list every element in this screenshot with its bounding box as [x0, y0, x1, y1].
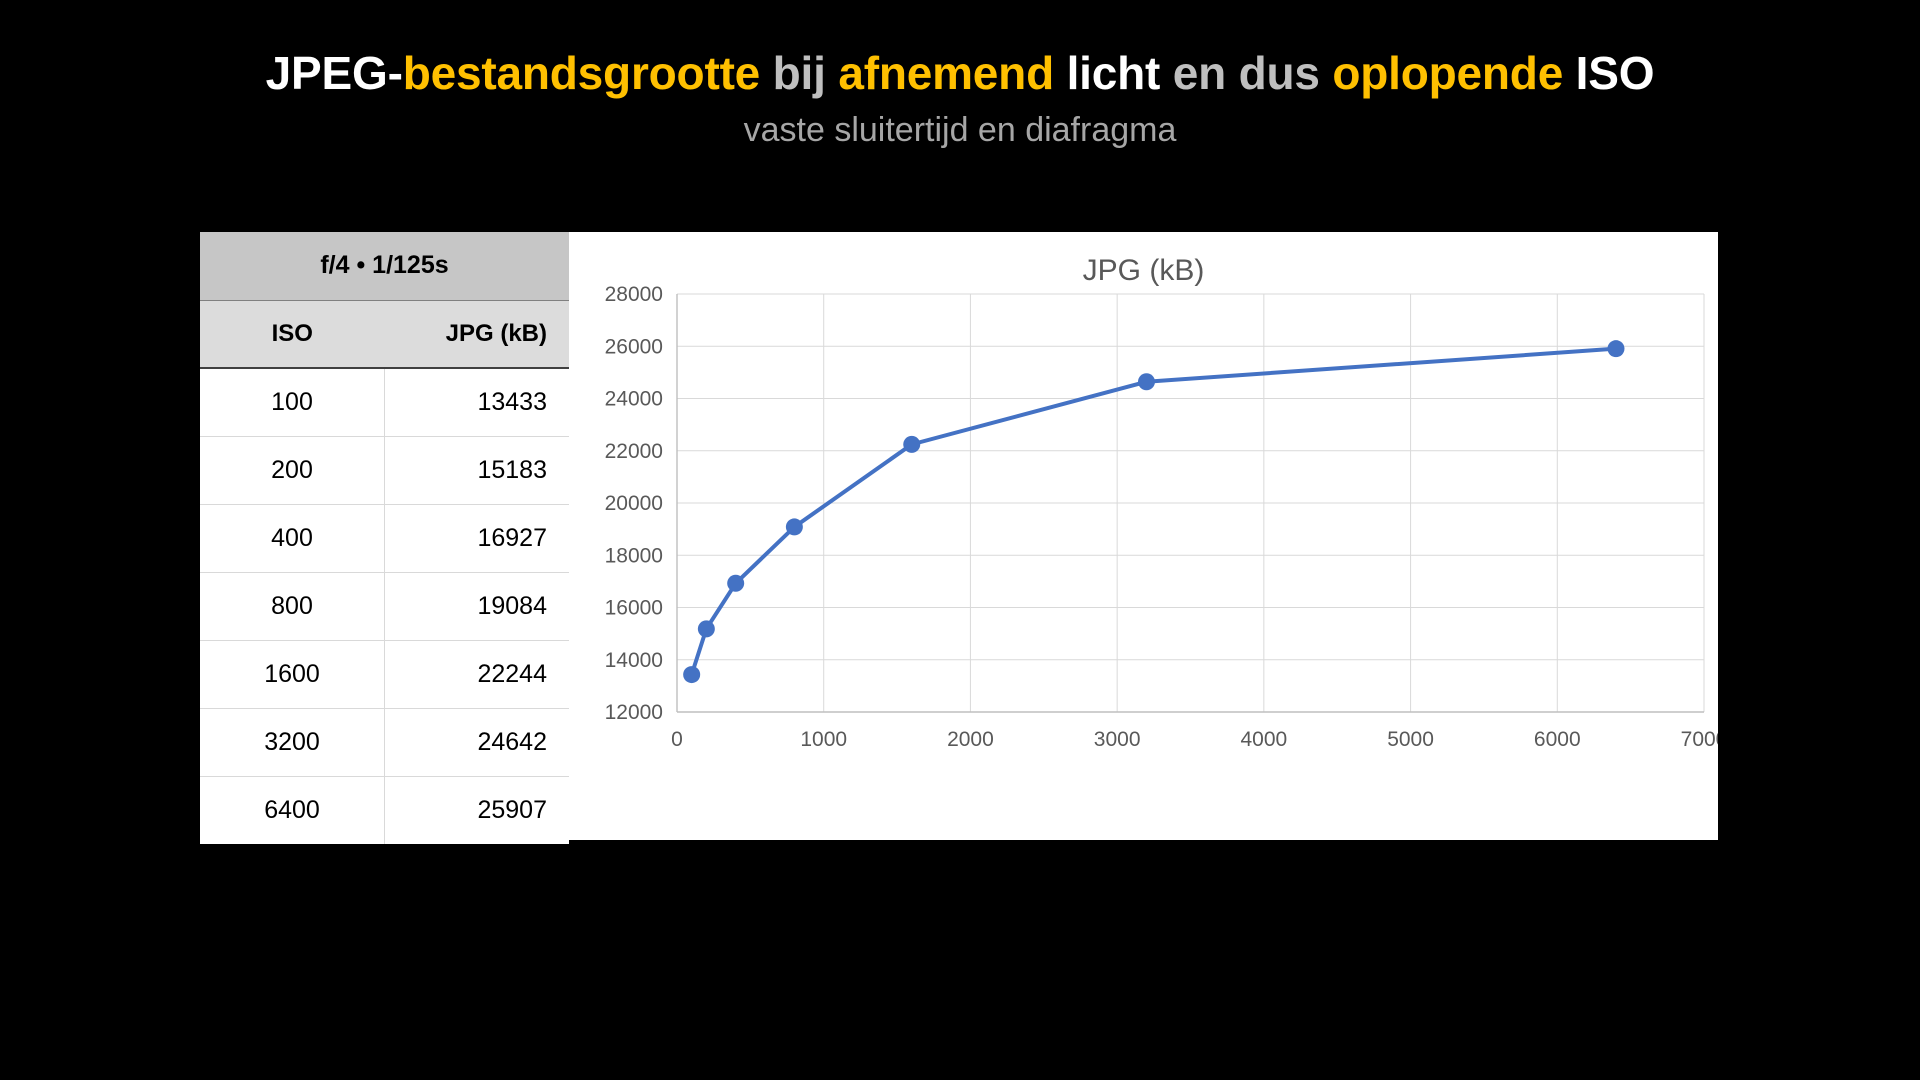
x-tick-label: 7000 [1681, 728, 1718, 751]
x-tick-label: 0 [671, 728, 683, 751]
table-row: 160022244 [200, 640, 569, 708]
cell-jpg: 13433 [385, 368, 570, 436]
table-head: f/4 • 1/125s ISO JPG (kB) [200, 232, 569, 368]
cell-jpg: 15183 [385, 436, 570, 504]
cell-iso: 200 [200, 436, 385, 504]
title-segment-licht: licht [1054, 47, 1160, 99]
cell-iso: 1600 [200, 640, 385, 708]
x-tick-label: 2000 [947, 728, 994, 751]
table-row: 320024642 [200, 708, 569, 776]
y-tick-label: 22000 [605, 440, 663, 463]
table-merged-header: f/4 • 1/125s [200, 232, 569, 300]
series-line-0 [692, 349, 1616, 675]
data-point [698, 620, 715, 637]
iso-table-container: f/4 • 1/125s ISO JPG (kB) 10013433200151… [200, 232, 569, 840]
x-tick-label: 4000 [1240, 728, 1287, 751]
table-column-header-row: ISO JPG (kB) [200, 300, 569, 368]
page-title: JPEG-bestandsgrootte bij afnemend licht … [0, 48, 1920, 100]
cell-iso: 400 [200, 504, 385, 572]
x-tick-label: 1000 [800, 728, 847, 751]
slide: JPEG-bestandsgrootte bij afnemend licht … [0, 0, 1920, 1080]
table-merged-header-row: f/4 • 1/125s [200, 232, 569, 300]
table-row: 20015183 [200, 436, 569, 504]
y-tick-label: 16000 [605, 597, 663, 620]
y-tick-label: 12000 [605, 701, 663, 724]
x-tick-label: 3000 [1094, 728, 1141, 751]
table-row: 80019084 [200, 572, 569, 640]
cell-iso: 3200 [200, 708, 385, 776]
data-point [786, 518, 803, 535]
title-segment-oplopende: oplopende [1332, 47, 1563, 99]
data-point [1607, 340, 1624, 357]
title-segment-iso: ISO [1563, 47, 1654, 99]
page-subtitle: vaste sluitertijd en diafragma [0, 110, 1920, 151]
cell-jpg: 19084 [385, 572, 570, 640]
table-body: 1001343320015183400169278001908416002224… [200, 368, 569, 844]
title-block: JPEG-bestandsgrootte bij afnemend licht … [0, 48, 1920, 150]
y-tick-label: 26000 [605, 335, 663, 358]
data-point [1138, 373, 1155, 390]
x-tick-label: 5000 [1387, 728, 1434, 751]
title-segment-jpeg: JPEG- [266, 47, 403, 99]
y-tick-label: 20000 [605, 492, 663, 515]
column-header-iso: ISO [200, 300, 385, 368]
content-panel: f/4 • 1/125s ISO JPG (kB) 10013433200151… [200, 232, 1718, 840]
data-point [683, 666, 700, 683]
y-tick-label: 24000 [605, 388, 663, 411]
line-chart: 1200014000160001800020000220002400026000… [569, 232, 1718, 840]
chart-container: JPG (kB) 1200014000160001800020000220002… [569, 232, 1718, 840]
y-tick-label: 18000 [605, 544, 663, 567]
cell-iso: 100 [200, 368, 385, 436]
y-tick-label: 28000 [605, 283, 663, 306]
table-row: 10013433 [200, 368, 569, 436]
title-segment-en-dus: en dus [1160, 47, 1332, 99]
x-tick-label: 6000 [1534, 728, 1581, 751]
cell-jpg: 25907 [385, 776, 570, 844]
data-point [727, 575, 744, 592]
table-row: 40016927 [200, 504, 569, 572]
data-point [903, 436, 920, 453]
cell-jpg: 24642 [385, 708, 570, 776]
title-segment-bestandsgrootte: bestandsgrootte [403, 47, 760, 99]
iso-jpg-table: f/4 • 1/125s ISO JPG (kB) 10013433200151… [200, 232, 569, 844]
table-row: 640025907 [200, 776, 569, 844]
cell-iso: 800 [200, 572, 385, 640]
cell-jpg: 22244 [385, 640, 570, 708]
title-segment-bij: bij [760, 47, 838, 99]
cell-jpg: 16927 [385, 504, 570, 572]
title-segment-afnemend: afnemend [838, 47, 1054, 99]
column-header-jpg: JPG (kB) [385, 300, 570, 368]
y-tick-label: 14000 [605, 649, 663, 672]
cell-iso: 6400 [200, 776, 385, 844]
